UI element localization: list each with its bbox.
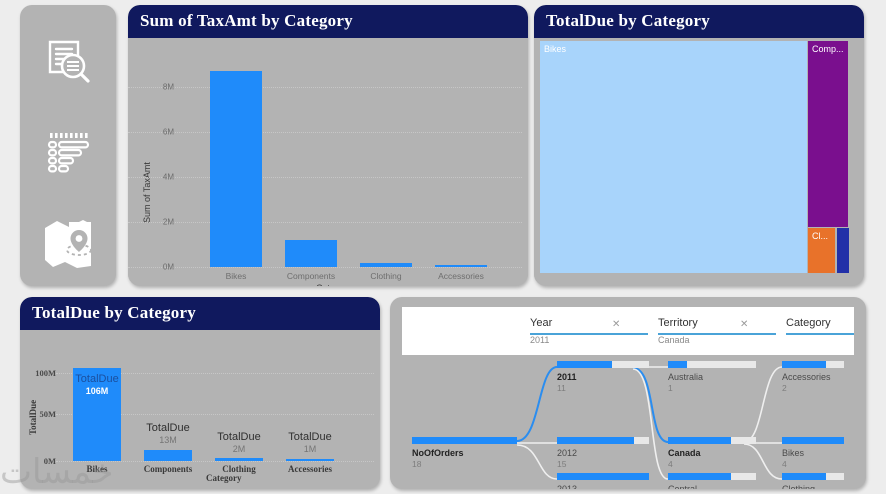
field-underline xyxy=(786,333,854,335)
node-label: NoOfOrders xyxy=(412,448,517,458)
node-bar xyxy=(557,437,649,444)
bar-bikes[interactable] xyxy=(210,71,262,267)
node-value: 2 xyxy=(782,383,844,393)
data-label-value: 2M xyxy=(217,444,260,455)
tree-node-australia[interactable]: Australia 1 xyxy=(668,361,756,393)
field-category[interactable]: Category xyxy=(786,317,831,329)
chart-treemap-totaldue: Bikes Comp... Cl... xyxy=(534,38,864,281)
y-tick: 0M xyxy=(150,263,174,272)
node-label: Australia xyxy=(668,372,756,382)
data-label-name: TotalDue xyxy=(146,422,189,435)
data-label-name: TotalDue xyxy=(217,431,260,444)
tree-node-2011[interactable]: 2011 11 xyxy=(557,361,649,393)
treemap-tile-components[interactable]: Comp... xyxy=(808,41,848,227)
panel-treemap-totaldue: TotalDue by Category Bikes Comp... Cl... xyxy=(534,5,864,286)
bar-components[interactable] xyxy=(144,450,192,461)
icon-sidebar xyxy=(20,5,116,286)
tree-node-clothing[interactable]: Clothing xyxy=(782,473,844,489)
field-name: Territory xyxy=(658,317,698,329)
close-icon[interactable]: ✕ xyxy=(612,319,620,330)
node-label: Central xyxy=(668,484,756,489)
y-tick: 8M xyxy=(150,83,174,92)
x-tick: Bikes xyxy=(226,271,247,281)
panel-title-totaldue: TotalDue by Category xyxy=(20,297,380,330)
bar-list-icon[interactable] xyxy=(20,109,116,199)
panel-totaldue-bar: TotalDue by Category TotalDue 0M 50M 100… xyxy=(20,297,380,489)
data-label-components: TotalDue 13M xyxy=(146,422,189,446)
tree-node-bikes[interactable]: Bikes 4 xyxy=(782,437,844,469)
node-bar xyxy=(782,473,844,480)
node-bar xyxy=(668,437,756,444)
node-value: 15 xyxy=(557,459,649,469)
gridline xyxy=(128,132,522,133)
data-label-name: TotalDue xyxy=(75,373,118,386)
x-axis-title-totaldue: Category xyxy=(206,473,242,483)
field-underline xyxy=(658,333,776,335)
node-label: Clothing xyxy=(782,484,844,489)
field-value: 2011 xyxy=(530,335,552,345)
y-tick: 50M xyxy=(30,409,56,419)
node-value: 4 xyxy=(668,459,756,469)
node-label: 2013 xyxy=(557,484,649,489)
tree-node-noofaorders[interactable]: NoOfOrders 18 xyxy=(412,437,517,469)
node-label: 2011 xyxy=(557,372,649,382)
tree-node-central[interactable]: Central xyxy=(668,473,756,489)
data-label-name: TotalDue xyxy=(288,431,331,444)
node-bar xyxy=(412,437,517,444)
x-tick: Components xyxy=(287,271,335,281)
node-bar xyxy=(557,361,649,368)
y-tick: 4M xyxy=(150,173,174,182)
tree-node-2012[interactable]: 2012 15 xyxy=(557,437,649,469)
field-name: Category xyxy=(786,317,831,329)
node-value: 11 xyxy=(557,383,649,393)
field-underline xyxy=(530,333,648,335)
bar-clothing[interactable] xyxy=(360,263,412,267)
x-tick: Clothing xyxy=(370,271,401,281)
x-tick: Components xyxy=(144,464,193,474)
x-axis-title-taxamt: Category xyxy=(316,283,353,286)
data-label-clothing: TotalDue 2M xyxy=(217,431,260,455)
treemap-label-components: Comp... xyxy=(808,41,848,54)
map-pin-icon[interactable] xyxy=(20,199,116,286)
treemap-label-bikes: Bikes xyxy=(540,41,807,54)
node-bar xyxy=(782,437,844,444)
bar-components[interactable] xyxy=(285,240,337,267)
node-label: Bikes xyxy=(782,448,844,458)
data-label-accessories: TotalDue 1M xyxy=(288,431,331,455)
node-label: 2012 xyxy=(557,448,649,458)
node-value: 4 xyxy=(782,459,844,469)
data-label-value: 13M xyxy=(146,435,189,446)
bar-accessories[interactable] xyxy=(286,459,334,461)
gridline xyxy=(128,267,522,268)
y-tick: 0M xyxy=(30,456,56,466)
tree-node-canada[interactable]: Canada 4 xyxy=(668,437,756,469)
node-bar xyxy=(782,361,844,368)
node-value: 1 xyxy=(668,383,756,393)
decomposition-field-bar: Year 2011 ✕ Territory Canada ✕ Category xyxy=(402,307,854,355)
panel-sum-taxamt: Sum of TaxAmt by Category Sum of TaxAmt … xyxy=(128,5,528,286)
field-name: Year xyxy=(530,317,552,329)
gridline xyxy=(128,87,522,88)
panel-decomposition-tree: Year 2011 ✕ Territory Canada ✕ Category … xyxy=(390,297,866,489)
document-search-icon[interactable] xyxy=(20,19,116,109)
y-tick: 2M xyxy=(150,218,174,227)
treemap-label-clothing: Cl... xyxy=(808,228,835,241)
bar-accessories[interactable] xyxy=(435,265,487,267)
data-label-value: 1M xyxy=(288,444,331,455)
panel-title-sum-taxamt: Sum of TaxAmt by Category xyxy=(128,5,528,38)
treemap-tile-clothing[interactable]: Cl... xyxy=(808,228,835,273)
node-bar xyxy=(557,473,649,480)
y-tick: 100M xyxy=(30,368,56,378)
x-tick: Accessories xyxy=(438,271,484,281)
x-tick: Accessories xyxy=(288,464,332,474)
gridline xyxy=(128,177,522,178)
gridline xyxy=(128,222,522,223)
node-bar xyxy=(668,361,756,368)
treemap-tile-bikes[interactable]: Bikes xyxy=(540,41,807,273)
field-territory[interactable]: Territory Canada xyxy=(658,317,698,345)
node-value: 18 xyxy=(412,459,517,469)
field-value: Canada xyxy=(658,335,698,345)
y-tick: 6M xyxy=(150,128,174,137)
tree-node-accessories[interactable]: Accessories 2 xyxy=(782,361,844,393)
y-axis-title-taxamt: Sum of TaxAmt xyxy=(142,162,152,223)
data-label-bikes: TotalDue 106M xyxy=(75,373,118,397)
chart-totaldue-bar: TotalDue 0M 50M 100M TotalDue 106M Total… xyxy=(20,330,380,484)
node-bar xyxy=(668,473,756,480)
treemap-tile-accessories[interactable] xyxy=(837,228,849,273)
tree-node-2013[interactable]: 2013 xyxy=(557,473,649,489)
node-label: Accessories xyxy=(782,372,844,382)
treemap-label-accessories xyxy=(837,228,849,231)
close-icon[interactable]: ✕ xyxy=(740,319,748,330)
gridline xyxy=(56,461,374,462)
bar-clothing[interactable] xyxy=(215,458,263,461)
x-tick: Bikes xyxy=(86,464,107,474)
panel-title-treemap: TotalDue by Category xyxy=(534,5,864,38)
node-label: Canada xyxy=(668,448,756,458)
data-label-value: 106M xyxy=(75,386,118,397)
chart-sum-taxamt: Sum of TaxAmt 0M 2M 4M 6M 8M Bikes Compo… xyxy=(128,38,528,281)
field-year[interactable]: Year 2011 xyxy=(530,317,552,345)
